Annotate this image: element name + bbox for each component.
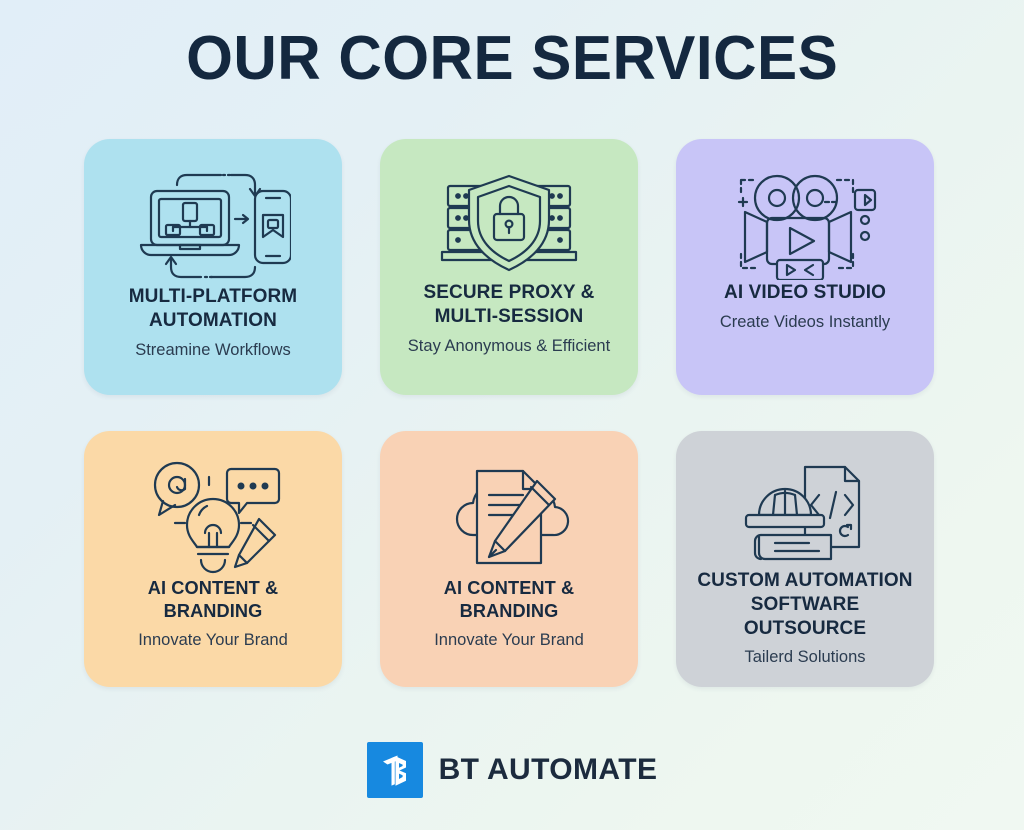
service-card-multi-platform-automation[interactable]: MULTI-PLATFORM AUTOMATION Streamine Work… (84, 139, 342, 395)
brand-footer: BT AUTOMATE (0, 742, 1024, 798)
card-title: CUSTOM AUTOMATION SOFTWARE OUTSOURCE (690, 569, 920, 640)
card-title: AI VIDEO STUDIO (690, 281, 920, 305)
card-text-block: AI VIDEO STUDIO Create Videos Instantly (690, 281, 920, 377)
card-subtitle: Create Videos Instantly (690, 312, 920, 333)
service-card-secure-proxy-multi-session[interactable]: SECURE PROXY & MULTI-SESSION Stay Anonym… (380, 139, 638, 395)
card-subtitle: Tailerd Solutions (690, 647, 920, 668)
hardhat-code-document-icon (690, 459, 920, 569)
card-text-block: CUSTOM AUTOMATION SOFTWARE OUTSOURCE Tai… (690, 569, 920, 691)
laptop-mobile-sync-icon (98, 167, 328, 285)
card-text-block: AI CONTENT & BRANDING Innovate Your Bran… (394, 577, 624, 679)
service-card-custom-automation-software-outsource[interactable]: CUSTOM AUTOMATION SOFTWARE OUTSOURCE Tai… (676, 431, 934, 687)
card-text-block: MULTI-PLATFORM AUTOMATION Streamine Work… (98, 285, 328, 387)
bt-automate-logo-icon (367, 742, 423, 798)
brand-name: BT AUTOMATE (439, 753, 658, 787)
server-shield-lock-icon (394, 167, 624, 281)
card-subtitle: Innovate Your Brand (394, 630, 624, 651)
card-title: SECURE PROXY & MULTI-SESSION (394, 281, 624, 329)
lightbulb-chat-pencil-icon (98, 459, 328, 577)
card-subtitle: Innovate Your Brand (98, 630, 328, 651)
services-page: OUR CORE SERVICES (0, 0, 1024, 830)
service-card-ai-content-branding-2[interactable]: AI CONTENT & BRANDING Innovate Your Bran… (380, 431, 638, 687)
card-title: AI CONTENT & BRANDING (394, 577, 624, 623)
service-card-ai-content-branding-1[interactable]: AI CONTENT & BRANDING Innovate Your Bran… (84, 431, 342, 687)
services-grid: MULTI-PLATFORM AUTOMATION Streamine Work… (84, 139, 940, 687)
card-title: MULTI-PLATFORM AUTOMATION (98, 285, 328, 333)
card-text-block: AI CONTENT & BRANDING Innovate Your Bran… (98, 577, 328, 679)
card-subtitle: Stay Anonymous & Efficient (394, 336, 624, 357)
card-subtitle: Streamine Workflows (98, 340, 328, 361)
document-pencil-cloud-icon (394, 459, 624, 577)
movie-camera-icon (690, 167, 920, 281)
card-title: AI CONTENT & BRANDING (98, 577, 328, 623)
service-card-ai-video-studio[interactable]: AI VIDEO STUDIO Create Videos Instantly (676, 139, 934, 395)
card-text-block: SECURE PROXY & MULTI-SESSION Stay Anonym… (394, 281, 624, 377)
page-title: OUR CORE SERVICES (186, 26, 838, 91)
